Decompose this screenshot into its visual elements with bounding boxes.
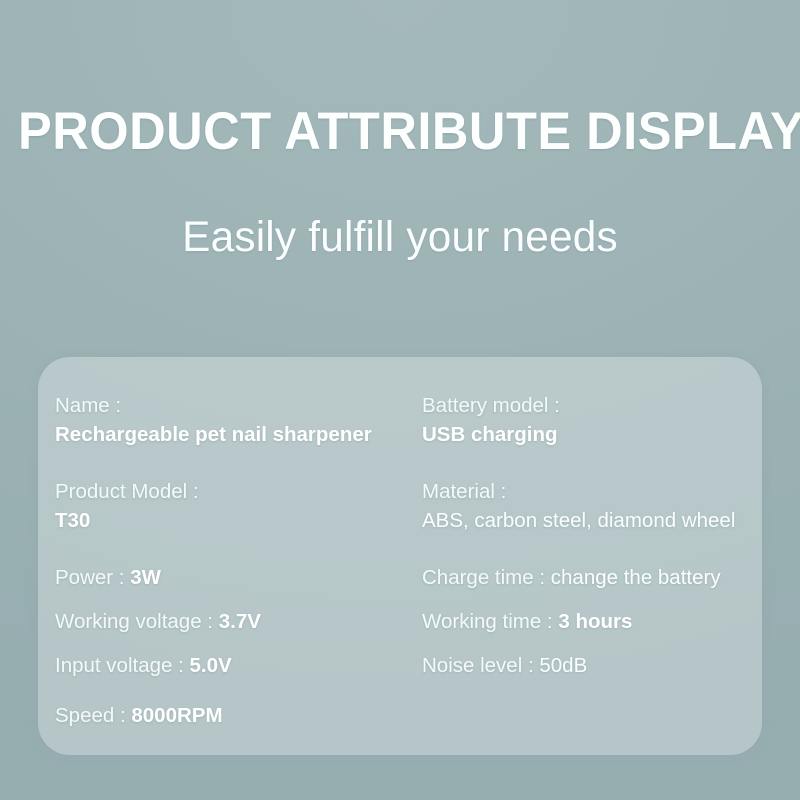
- spec-value-battery-model: USB charging: [422, 420, 560, 449]
- spec-label-working-time: Working time :: [422, 610, 553, 633]
- spec-row-noise-level: Noise level : 50dB: [422, 651, 587, 680]
- spec-label-material: Material :: [422, 480, 506, 503]
- spec-row-name: Name : Rechargeable pet nail sharpener: [55, 391, 372, 449]
- spec-value-noise-level: 50dB: [539, 654, 587, 677]
- spec-row-working-voltage: Working voltage : 3.7V: [55, 607, 261, 636]
- page-title: PRODUCT ATTRIBUTE DISPLAY: [18, 103, 782, 161]
- spec-label-name: Name :: [55, 394, 121, 417]
- spec-row-working-time: Working time : 3 hours: [422, 607, 632, 636]
- spec-row-product-model: Product Model : T30: [55, 477, 199, 535]
- spec-value-working-voltage: 3.7V: [219, 610, 261, 633]
- spec-value-charge-time: change the battery: [551, 566, 721, 589]
- product-attribute-page: PRODUCT ATTRIBUTE DISPLAY Easily fulfill…: [0, 0, 800, 800]
- spec-value-speed: 8000RPM: [131, 704, 222, 727]
- spec-label-speed: Speed :: [55, 704, 126, 727]
- spec-row-charge-time: Charge time : change the battery: [422, 563, 721, 592]
- spec-row-battery-model: Battery model : USB charging: [422, 391, 560, 449]
- spec-label-charge-time: Charge time :: [422, 566, 545, 589]
- spec-label-product-model: Product Model :: [55, 480, 199, 503]
- spec-value-power: 3W: [130, 566, 161, 589]
- spec-card: Name : Rechargeable pet nail sharpener P…: [38, 357, 762, 755]
- page-subtitle: Easily fulfill your needs: [6, 212, 794, 262]
- spec-value-product-model: T30: [55, 506, 199, 535]
- spec-row-power: Power : 3W: [55, 563, 161, 592]
- spec-row-input-voltage: Input voltage : 5.0V: [55, 651, 232, 680]
- spec-row-material: Material : ABS, carbon steel, diamond wh…: [422, 477, 735, 535]
- spec-value-working-time: 3 hours: [558, 610, 632, 633]
- spec-label-working-voltage: Working voltage :: [55, 610, 213, 633]
- spec-label-power: Power :: [55, 566, 125, 589]
- spec-value-name: Rechargeable pet nail sharpener: [55, 420, 372, 449]
- spec-label-noise-level: Noise level :: [422, 654, 534, 677]
- spec-value-material: ABS, carbon steel, diamond wheel: [422, 506, 735, 535]
- spec-label-battery-model: Battery model :: [422, 394, 560, 417]
- spec-label-input-voltage: Input voltage :: [55, 654, 184, 677]
- spec-row-speed: Speed : 8000RPM: [55, 701, 223, 730]
- spec-value-input-voltage: 5.0V: [190, 654, 232, 677]
